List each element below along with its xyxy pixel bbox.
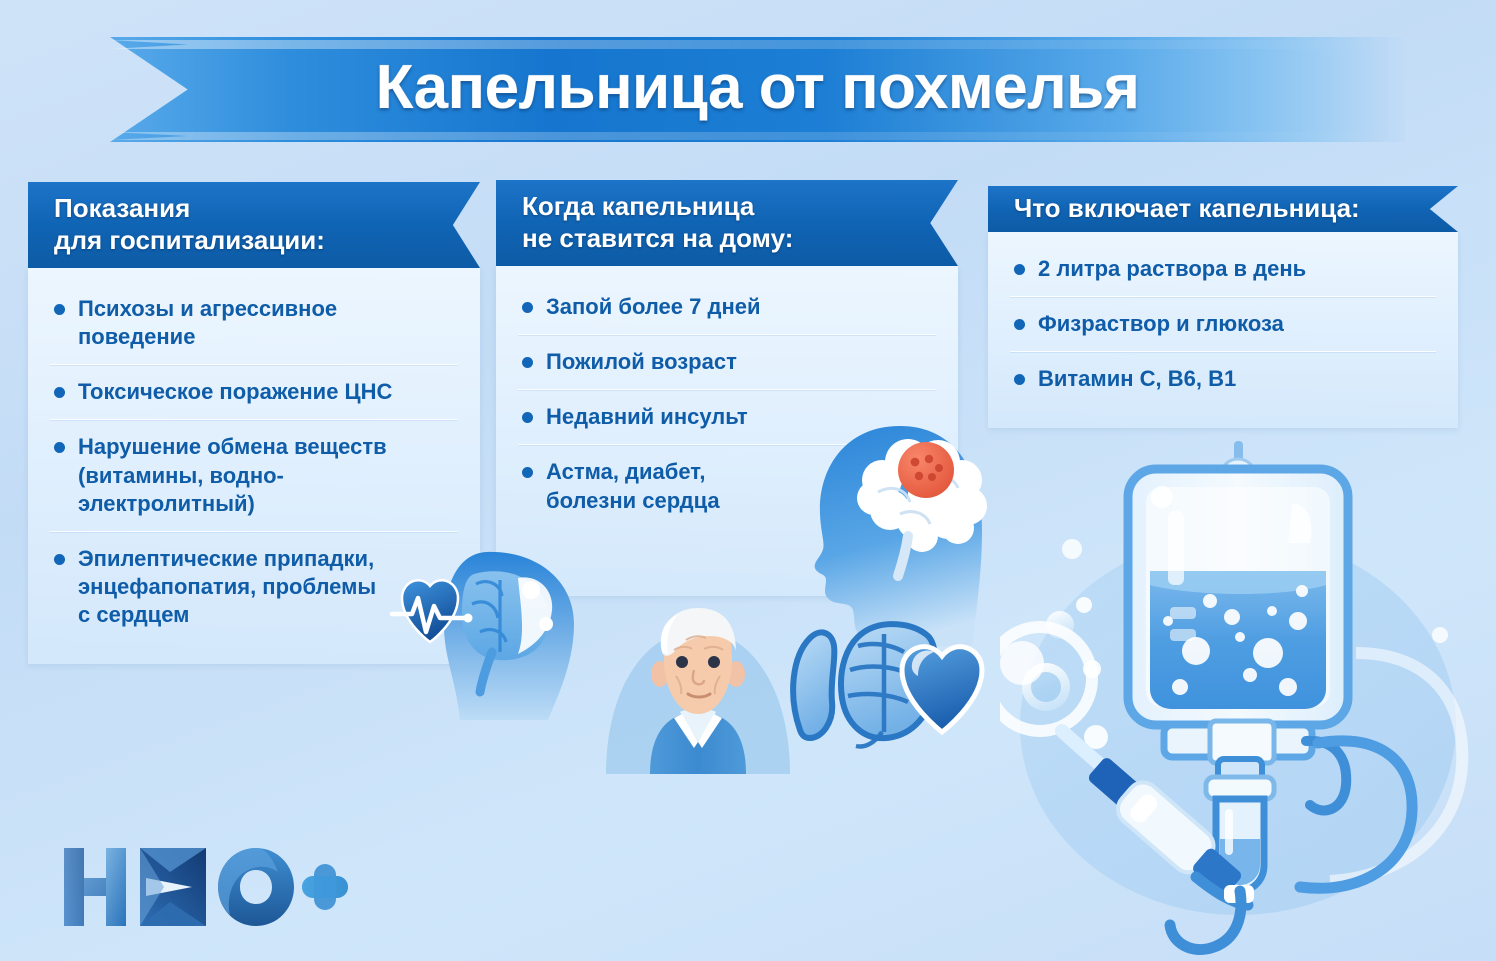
list-item: Физраствор и глюкоза: [1010, 297, 1436, 352]
list-item-label: Витамин С, B6, B1: [1038, 365, 1236, 393]
list-item: Токсическое поражение ЦНС: [50, 365, 458, 420]
panel-heading-line-1: Когда капельница: [522, 191, 932, 223]
list-item-label: Нарушение обмена веществ (витамины, водн…: [78, 433, 454, 517]
list-item: Недавний инсульт: [518, 390, 936, 445]
list-item-label: Психозы и агрессивное поведение: [78, 295, 337, 351]
list-item-label: 2 литра раствора в день: [1038, 255, 1306, 283]
list-item-label: Астма, диабет, болезни сердца: [546, 458, 720, 514]
brand-logo-neo-plus: [60, 838, 350, 934]
list-item: Психозы и агрессивное поведение: [50, 282, 458, 365]
panel-contents: Что включает капельница: 2 литра раствор…: [988, 186, 1458, 428]
iv-drip-bag-illustration: [1000, 425, 1496, 961]
panel-heading-line-2: не ставится на дому:: [522, 223, 932, 255]
list-item-label: Физраствор и глюкоза: [1038, 310, 1284, 338]
list-item: Нарушение обмена веществ (витамины, водн…: [50, 420, 458, 531]
list-item: 2 литра раствора в день: [1010, 242, 1436, 297]
bullet-dot-icon: [522, 357, 533, 368]
list-item-label: Эпилептические припадки, энцефапопатия, …: [78, 545, 376, 629]
bullet-dot-icon: [522, 467, 533, 478]
bullet-dot-icon: [522, 302, 533, 313]
list-item: Пожилой возраст: [518, 335, 936, 390]
panel-heading-line-2: для госпитализации:: [54, 225, 454, 257]
panel-indications: Показания для госпитализации: Психозы и …: [28, 182, 480, 664]
bullet-dot-icon: [522, 412, 533, 423]
page-title: Капельница от похмелья: [110, 37, 1405, 142]
bullet-dot-icon: [54, 554, 65, 565]
panel-header-contents: Что включает капельница:: [988, 186, 1458, 232]
bullet-dot-icon: [54, 304, 65, 315]
elderly-man-icon: [598, 596, 798, 776]
list-item: Эпилептические припадки, энцефапопатия, …: [50, 532, 458, 642]
list-item: Запой более 7 дней: [518, 280, 936, 335]
bullet-dot-icon: [54, 387, 65, 398]
panel-heading-line-1: Показания: [54, 193, 454, 225]
panel-body-contents: 2 литра раствора в день Физраствор и глю…: [988, 232, 1458, 428]
list-item-label: Недавний инсульт: [546, 403, 748, 431]
panel-header-contraindications: Когда капельница не ставится на дому:: [496, 180, 958, 266]
bullet-dot-icon: [54, 442, 65, 453]
panel-heading-line-1: Что включает капельница:: [1014, 193, 1432, 225]
list-item: Витамин С, B6, B1: [1010, 352, 1436, 406]
list-item-label: Запой более 7 дней: [546, 293, 761, 321]
list-item-label: Пожилой возраст: [546, 348, 737, 376]
panel-header-indications: Показания для госпитализации:: [28, 182, 480, 268]
list-item-label: Токсическое поражение ЦНС: [78, 378, 392, 406]
lungs-heart-icon: [786, 606, 986, 758]
panel-body-contraindications: Запой более 7 дней Пожилой возраст Недав…: [496, 266, 958, 596]
bullet-dot-icon: [1014, 374, 1025, 385]
infographic-canvas: Капельница от похмелья Показания для гос…: [0, 0, 1496, 961]
panel-contraindications: Когда капельница не ставится на дому: За…: [496, 180, 958, 596]
list-item: Астма, диабет, болезни сердца: [518, 445, 936, 527]
title-ribbon: Капельница от похмелья: [110, 37, 1405, 142]
bullet-dot-icon: [1014, 264, 1025, 275]
bullet-dot-icon: [1014, 319, 1025, 330]
panel-body-indications: Психозы и агрессивное поведение Токсичес…: [28, 268, 480, 664]
